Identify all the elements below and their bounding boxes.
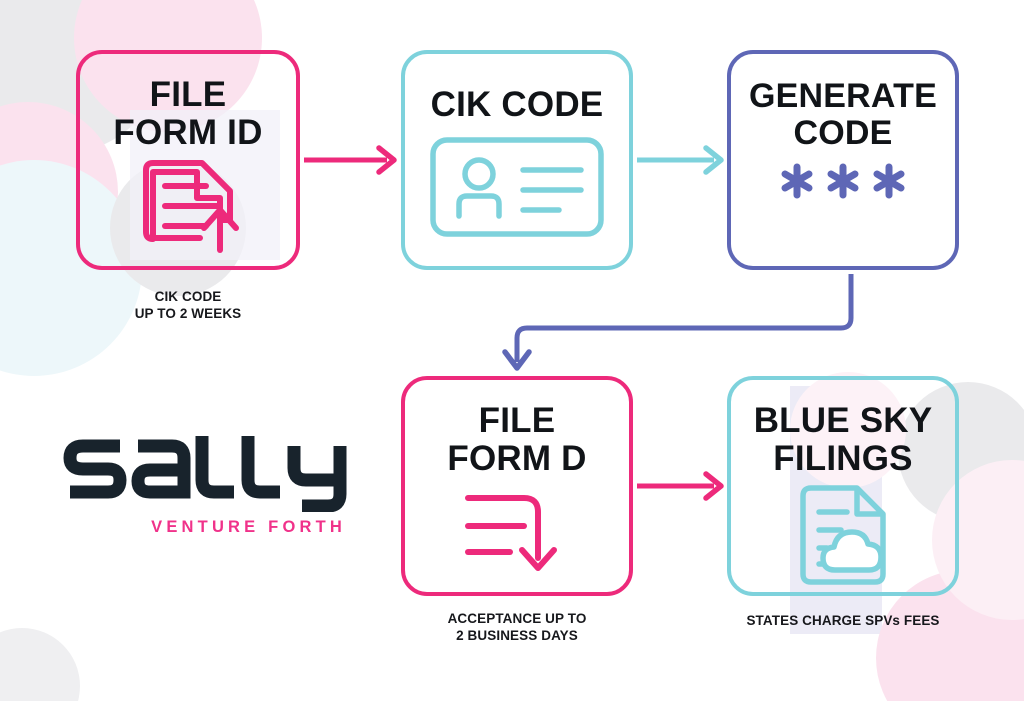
caption-file-form-id: CIK CODE UP TO 2 WEEKS <box>76 288 300 323</box>
connector-file-form-d-to-blue-sky <box>637 474 721 498</box>
asterisks-icon <box>779 163 907 199</box>
node-file-form-id[interactable]: FILE FORM ID <box>76 50 300 270</box>
lines-arrow-down-icon <box>462 488 572 576</box>
node-title-file-form-id: FILE FORM ID <box>113 76 262 152</box>
document-cloud-icon <box>791 482 895 588</box>
node-generate-code[interactable]: GENERATE CODE <box>727 50 959 270</box>
node-title-blue-sky-filings: BLUE SKY FILINGS <box>754 402 933 478</box>
sally-wordmark <box>62 434 352 512</box>
asterisk-icon-3 <box>871 163 907 199</box>
node-title-cik-code: CIK CODE <box>431 86 604 124</box>
node-blue-sky-filings[interactable]: BLUE SKY FILINGS <box>727 376 959 596</box>
sally-logo: VENTURE FORTH <box>62 434 352 537</box>
node-cik-code[interactable]: CIK CODE <box>401 50 633 270</box>
connector-file-form-id-to-cik-code <box>304 148 394 172</box>
node-title-file-form-d: FILE FORM D <box>447 402 586 478</box>
sally-tagline: VENTURE FORTH <box>62 518 352 537</box>
document-upload-icon <box>134 158 242 254</box>
node-file-form-d[interactable]: FILE FORM D <box>401 376 633 596</box>
asterisk-icon-2 <box>825 163 861 199</box>
caption-blue-sky-filings: STATES CHARGE SPVs FEES <box>707 612 979 629</box>
connector-generate-code-to-file-form-d <box>505 274 851 368</box>
node-title-generate-code: GENERATE CODE <box>749 78 937 151</box>
id-card-icon <box>429 136 605 238</box>
diagram-canvas: FILE FORM ID CIK CODE UP TO 2 WEEKS CIK … <box>0 0 1024 701</box>
caption-file-form-d: ACCEPTANCE UP TO 2 BUSINESS DAYS <box>391 610 643 645</box>
connector-cik-code-to-generate-code <box>637 148 721 172</box>
asterisk-icon-1 <box>779 163 815 199</box>
